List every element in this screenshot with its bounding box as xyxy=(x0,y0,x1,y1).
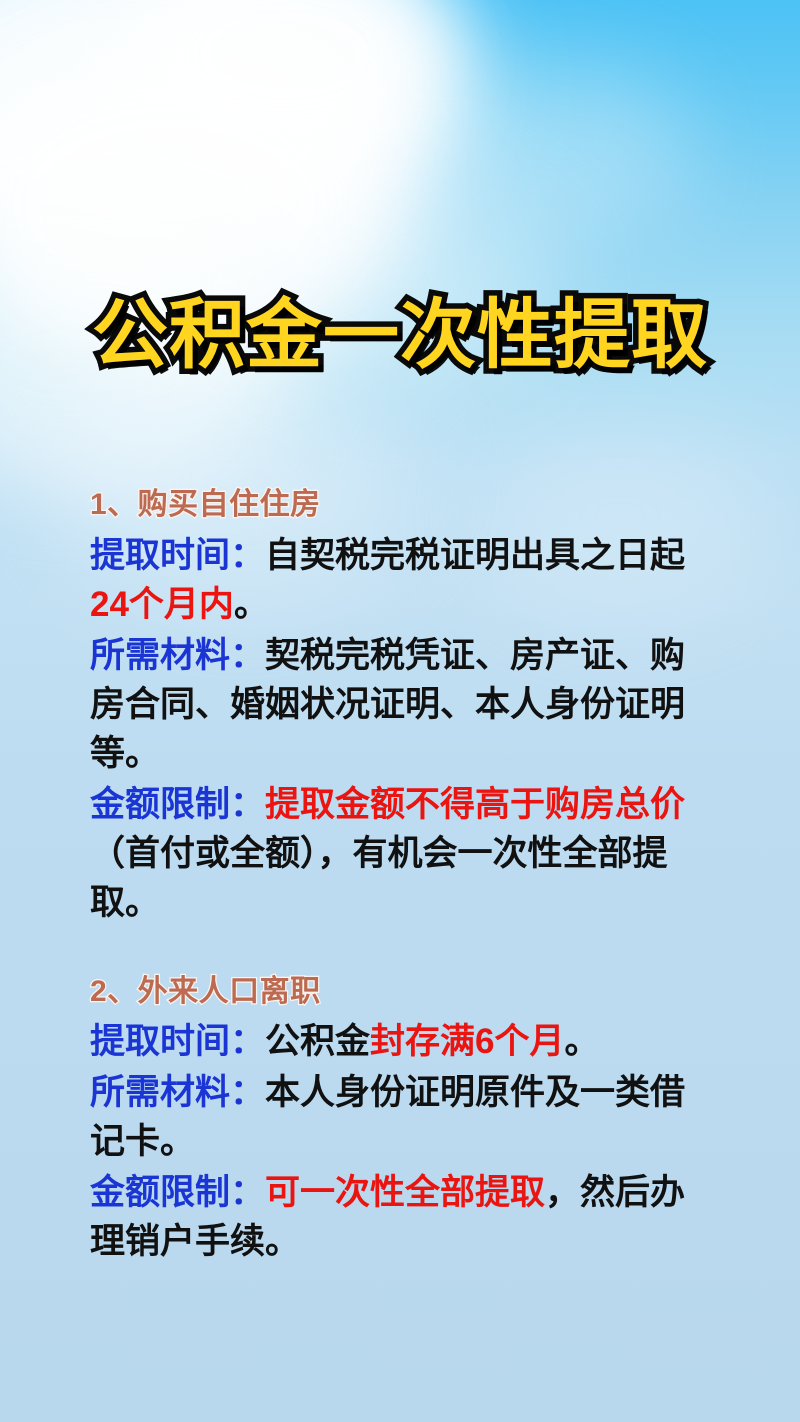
field-label: 金额限制： xyxy=(90,1173,265,1212)
body-text: 。 xyxy=(565,1022,600,1061)
poster-canvas: 公积金一次性提取 1、购买自住住房提取时间：自契税完税证明出具之日起24个月内。… xyxy=(0,0,800,1422)
content-line: 提取时间：公积金封存满6个月。 xyxy=(90,1017,698,1066)
section-heading: 1、购买自住住房 xyxy=(90,484,698,527)
cloud-shape xyxy=(430,60,690,240)
highlight-text: 封存满6个月 xyxy=(370,1022,564,1061)
page-title: 公积金一次性提取 xyxy=(92,296,708,376)
body-text: 公积金 xyxy=(265,1022,370,1061)
section-heading: 2、外来人口离职 xyxy=(90,971,698,1014)
body-text: 自契税完税证明出具之日起 xyxy=(265,536,685,575)
field-label: 提取时间： xyxy=(90,1022,265,1061)
field-label: 提取时间： xyxy=(90,536,265,575)
content-section: 1、购买自住住房提取时间：自契税完税证明出具之日起24个月内。所需材料：契税完税… xyxy=(90,484,698,927)
body-text: （首付或全额），有机会一次性全部提取。 xyxy=(90,834,668,922)
content-body: 1、购买自住住房提取时间：自契税完税证明出具之日起24个月内。所需材料：契税完税… xyxy=(90,484,698,1268)
content-section: 2、外来人口离职提取时间：公积金封存满6个月。所需材料：本人身份证明原件及一类借… xyxy=(90,971,698,1267)
content-line: 所需材料：本人身份证明原件及一类借记卡。 xyxy=(90,1068,698,1166)
field-label: 金额限制： xyxy=(90,785,265,824)
body-text: 。 xyxy=(234,585,269,624)
highlight-text: 提取金额不得高于购房总价 xyxy=(265,785,685,824)
content-line: 所需材料：契税完税凭证、房产证、购房合同、婚姻状况证明、本人身份证明等。 xyxy=(90,631,698,778)
highlight-text: 可一次性全部提取 xyxy=(265,1173,545,1212)
field-label: 所需材料： xyxy=(90,636,265,675)
highlight-text: 24个月内 xyxy=(90,585,234,624)
content-line: 金额限制：可一次性全部提取，然后办理销户手续。 xyxy=(90,1168,698,1266)
cloud-shape xyxy=(120,0,450,170)
content-line: 提取时间：自契税完税证明出具之日起24个月内。 xyxy=(90,531,698,629)
content-line: 金额限制：提取金额不得高于购房总价（首付或全额），有机会一次性全部提取。 xyxy=(90,780,698,927)
field-label: 所需材料： xyxy=(90,1073,265,1112)
title-container: 公积金一次性提取 xyxy=(0,296,800,376)
cloud-shape xyxy=(0,0,470,290)
